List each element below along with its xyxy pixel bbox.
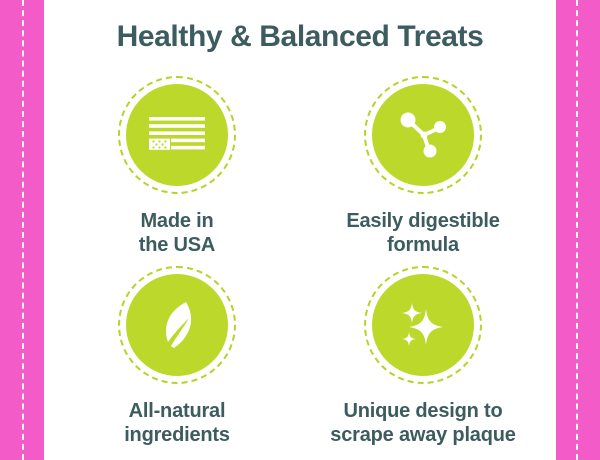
sparkle-icon	[396, 299, 450, 351]
feature-unique-design: Unique design to scrape away plaque	[300, 262, 546, 452]
leaf-icon	[155, 298, 199, 352]
features-grid: Made in the USA	[54, 72, 546, 452]
badge-disc	[372, 274, 474, 376]
usa-flag-icon	[149, 117, 205, 153]
badge	[364, 266, 482, 384]
badge-disc	[126, 274, 228, 376]
content-card: Healthy & Balanced Treats	[54, 0, 546, 460]
feature-all-natural: All-natural ingredients	[54, 262, 300, 452]
badge	[118, 76, 236, 194]
right-pink-band	[556, 0, 600, 460]
badge	[364, 76, 482, 194]
badge-disc	[126, 84, 228, 186]
page-title: Healthy & Balanced Treats	[54, 20, 546, 53]
badge-disc	[372, 84, 474, 186]
left-dashed-line	[22, 0, 24, 460]
infographic-page: Healthy & Balanced Treats	[0, 0, 600, 460]
molecule-icon	[396, 111, 450, 159]
left-pink-band	[0, 0, 44, 460]
badge	[118, 266, 236, 384]
left-gutter	[44, 0, 54, 460]
feature-label: All-natural ingredients	[124, 400, 230, 447]
feature-made-in-usa: Made in the USA	[54, 72, 300, 262]
feature-label: Made in the USA	[139, 210, 215, 257]
feature-easily-digestible: Easily digestible formula	[300, 72, 546, 262]
right-gutter	[546, 0, 556, 460]
right-dashed-line	[576, 0, 578, 460]
feature-label: Easily digestible formula	[346, 210, 499, 257]
feature-label: Unique design to scrape away plaque	[330, 400, 515, 447]
